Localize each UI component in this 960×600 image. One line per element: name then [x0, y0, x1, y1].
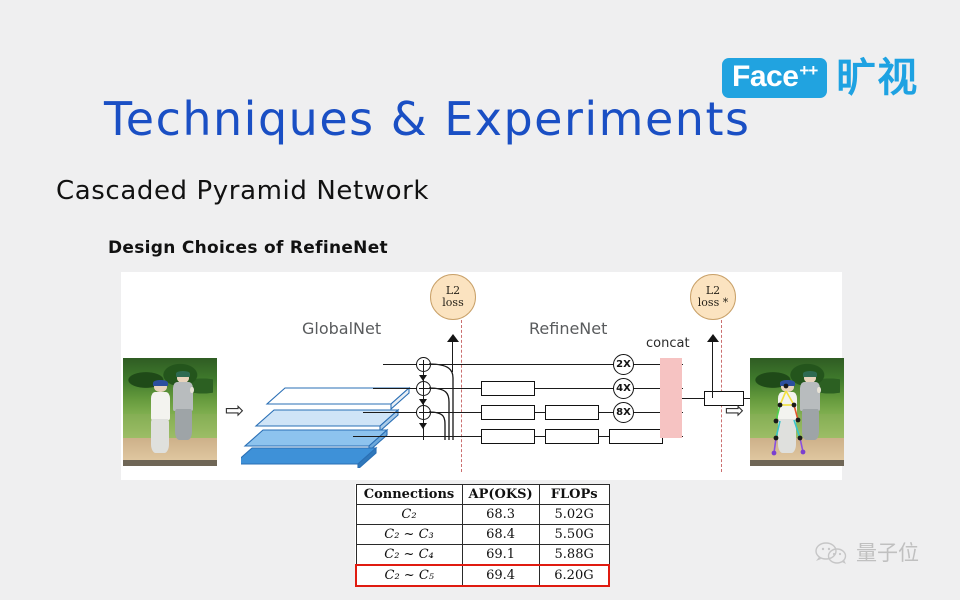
loss-left-arrow-head: [447, 334, 459, 342]
concat-out-line: [682, 398, 706, 399]
slide-canvas: Face ++ 旷视 Techniques & Experiments Casc…: [0, 0, 960, 600]
faceplusplus-logo: Face ++ 旷视: [722, 58, 918, 98]
table-row-highlighted: C₂ ~ C₅ 69.4 6.20G: [356, 565, 609, 586]
pyramid-level-3: [245, 430, 387, 446]
photo-player-front: [147, 382, 175, 453]
output-photo: [750, 358, 844, 466]
refinenet-label: RefineNet: [529, 320, 607, 338]
bottleneck-block: [481, 381, 535, 396]
cell-flops: 5.88G: [539, 545, 609, 566]
table-row: C₂ ~ C₄ 69.1 5.88G: [356, 545, 609, 566]
cell-connections: C₂ ~ C₅: [356, 565, 462, 586]
cell-ap-oks: 69.1: [462, 545, 539, 566]
col-header-ap-oks: AP(OKS): [462, 485, 539, 505]
concat-label: concat: [646, 336, 690, 351]
cell-connections: C₂: [356, 505, 462, 525]
section-heading: Cascaded Pyramid Network: [56, 176, 429, 206]
loss-right-arrow-stem: [712, 338, 713, 372]
pyramid-out-line-4: [353, 436, 423, 437]
logo-wordmark: Face: [732, 61, 798, 93]
pyramid-level-1: [267, 388, 409, 404]
logo-chinese-name: 旷视: [836, 58, 918, 98]
col-header-flops: FLOPs: [539, 485, 609, 505]
pyramid-level-4: [241, 448, 376, 464]
bottleneck-block: [609, 429, 663, 444]
cell-ap-oks: 68.3: [462, 505, 539, 525]
table-row: C₂ ~ C₃ 68.4 5.50G: [356, 525, 609, 545]
table-row: C₂ 68.3 5.02G: [356, 505, 609, 525]
bottleneck-block: [545, 405, 599, 420]
results-table: Connections AP(OKS) FLOPs C₂ 68.3 5.02G …: [355, 484, 610, 587]
cell-flops: 6.20G: [539, 565, 609, 586]
cell-flops: 5.50G: [539, 525, 609, 545]
photo-bottom-strip: [123, 460, 217, 466]
l2-loss-refinenet: L2 loss *: [690, 274, 736, 320]
cell-flops: 5.02G: [539, 505, 609, 525]
player-cap: [176, 371, 191, 377]
bottleneck-block: [545, 429, 599, 444]
watermark: 量子位: [814, 541, 919, 565]
upsample-2x: 2X: [613, 354, 634, 375]
cell-connections: C₂ ~ C₄: [356, 545, 462, 566]
globalnet-label: GlobalNet: [302, 320, 381, 338]
bottleneck-block: [481, 405, 535, 420]
results-table-container: Connections AP(OKS) FLOPs C₂ 68.3 5.02G …: [355, 484, 610, 587]
table-header-row: Connections AP(OKS) FLOPs: [356, 485, 609, 505]
watermark-text: 量子位: [856, 542, 919, 564]
cell-ap-oks: 69.4: [462, 565, 539, 586]
loss-right-arrow-head: [707, 334, 719, 342]
skip-connections: [423, 356, 469, 448]
logo-superscript: ++: [799, 62, 817, 79]
concat-block: [660, 358, 682, 438]
pose-skeleton-overlay: [750, 358, 844, 466]
player-legs: [175, 409, 192, 440]
col-header-connections: Connections: [356, 485, 462, 505]
refine-lane-1: [423, 364, 683, 365]
upsample-8x: 8X: [613, 402, 634, 423]
baseball: [190, 387, 193, 394]
loss-line-2: loss: [442, 297, 463, 309]
l2-loss-globalnet: L2 loss: [430, 274, 476, 320]
wechat-icon: [814, 541, 848, 565]
input-photo: [123, 358, 217, 466]
cell-connections: C₂ ~ C₃: [356, 525, 462, 545]
page-title: Techniques & Experiments: [104, 93, 750, 145]
player-cap: [153, 380, 168, 386]
output-arrow-icon: ⇨: [725, 400, 744, 423]
upsample-4x: 4X: [613, 378, 634, 399]
head-to-loss-line: [712, 372, 713, 398]
pyramid-out-line-3: [363, 412, 423, 413]
cell-ap-oks: 68.4: [462, 525, 539, 545]
refine-lane-2: [423, 388, 683, 389]
player-torso: [151, 392, 170, 421]
bottleneck-block: [481, 429, 535, 444]
loss-line-2: loss *: [698, 297, 728, 309]
player-legs: [151, 419, 169, 453]
section-subheading: Design Choices of RefineNet: [108, 238, 388, 259]
architecture-figure: ⇨ GlobalNet RefineNet L2 loss L2 loss *: [121, 272, 842, 480]
